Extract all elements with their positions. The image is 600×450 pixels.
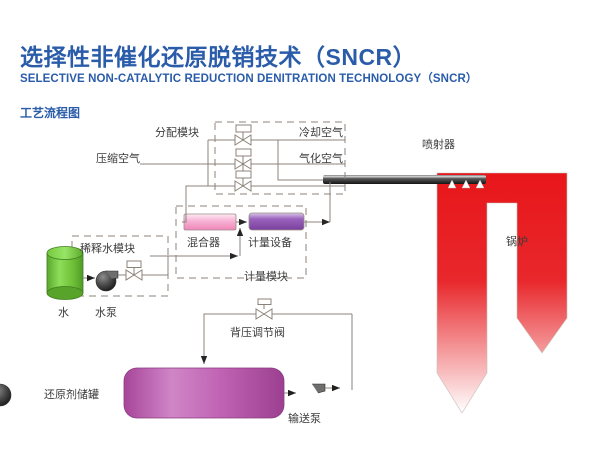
label-metering-module: 计量模块 — [244, 268, 288, 284]
label-back-pressure-valve: 背压调节阀 — [230, 324, 285, 340]
mixer-vessel — [184, 214, 236, 230]
label-injector: 喷射器 — [422, 136, 455, 152]
transfer-pump-discharge-line — [325, 314, 352, 390]
page-title-en: SELECTIVE NON-CATALYTIC REDUCTION DENITR… — [20, 70, 477, 86]
page-title-cn: 选择性非催化还原脱销技术（SNCR） — [20, 38, 416, 72]
metering-device-vessel — [249, 213, 304, 230]
water-pump — [83, 271, 118, 291]
label-distribution-module: 分配模块 — [155, 124, 199, 140]
label-reductant-storage-tank: 还原剂储罐 — [44, 386, 99, 402]
label-water-pump: 水泵 — [95, 304, 117, 320]
label-cooling-air: 冷却空气 — [299, 124, 343, 140]
distribution-valve-3 — [235, 171, 251, 191]
label-metering-device: 计量设备 — [248, 234, 292, 250]
label-mixer: 混合器 — [187, 234, 220, 250]
dilution-water-valve — [118, 256, 168, 280]
reductant-storage-tank — [124, 368, 284, 418]
label-transfer-pump: 输送泵 — [288, 410, 321, 426]
boiler-shape — [437, 173, 567, 413]
process-flow-diagram: 分配模块 压缩空气 冷却空气 气化空气 喷射器 锅炉 混合器 计量设备 计量模块… — [0, 118, 600, 450]
label-dilution-water-module: 稀释水模块 — [80, 240, 135, 256]
water-tank — [47, 247, 83, 300]
label-gasification-air: 气化空气 — [299, 150, 343, 166]
distribution-valve-1 — [235, 125, 251, 145]
label-compressed-air: 压缩空气 — [96, 150, 140, 166]
slide-page: 选择性非催化还原脱销技术（SNCR） SELECTIVE NON-CATALYT… — [0, 0, 600, 450]
label-water: 水 — [58, 304, 69, 320]
label-boiler: 锅炉 — [506, 233, 528, 249]
